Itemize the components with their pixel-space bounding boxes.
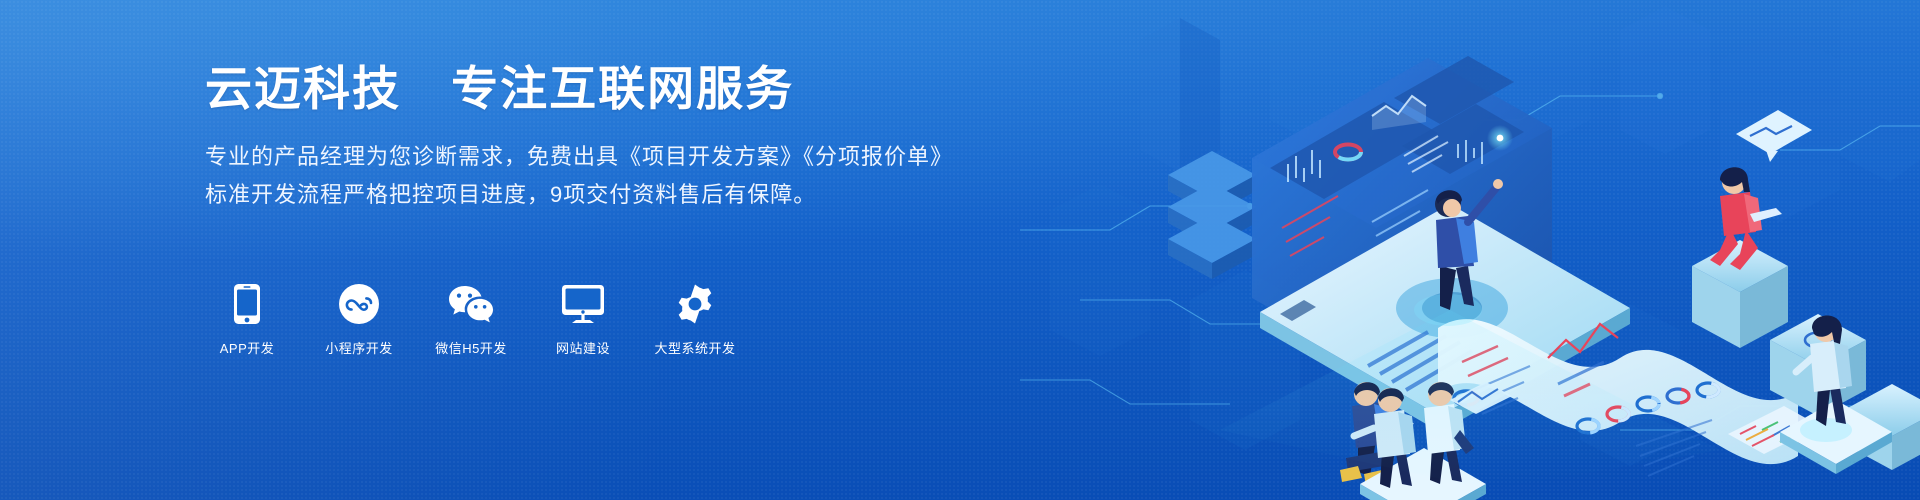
service-label: 大型系统开发 xyxy=(654,338,735,357)
headline-brand: 云迈科技 xyxy=(205,62,401,115)
service-item-app[interactable]: APP开发 xyxy=(205,282,289,357)
gear-icon xyxy=(674,282,716,326)
hero-subtitle: 专业的产品经理为您诊断需求，免费出具《项目开发方案》《分项报价单》 标准开发流程… xyxy=(205,138,965,214)
service-label: 小程序开发 xyxy=(325,338,393,357)
isometric-tech-dashboard-illustration xyxy=(1020,0,1920,500)
mobile-phone-icon xyxy=(233,282,261,326)
service-label: APP开发 xyxy=(220,338,275,357)
mini-program-icon xyxy=(338,282,380,326)
subtitle-line-1: 专业的产品经理为您诊断需求，免费出具《项目开发方案》《分项报价单》 xyxy=(205,138,965,176)
monitor-icon xyxy=(561,282,605,326)
subtitle-line-2: 标准开发流程严格把控项目进度，9项交付资料售后有保障。 xyxy=(205,176,965,214)
service-item-website[interactable]: 网站建设 xyxy=(541,282,625,357)
service-item-large-system[interactable]: 大型系统开发 xyxy=(653,282,737,357)
hero-banner: 云迈科技 专注互联网服务 专业的产品经理为您诊断需求，免费出具《项目开发方案》《… xyxy=(0,0,1920,500)
service-list: APP开发 小程序开发 xyxy=(205,282,737,357)
wechat-icon xyxy=(447,282,495,326)
service-item-wechat-h5[interactable]: 微信H5开发 xyxy=(429,282,513,357)
hero-copy: 云迈科技 专注互联网服务 专业的产品经理为您诊断需求，免费出具《项目开发方案》《… xyxy=(205,62,965,214)
page-title: 云迈科技 专注互联网服务 xyxy=(205,62,965,116)
server-stack xyxy=(1168,151,1256,279)
service-label: 微信H5开发 xyxy=(435,338,507,357)
service-label: 网站建设 xyxy=(556,338,610,357)
service-item-miniprogram[interactable]: 小程序开发 xyxy=(317,282,401,357)
headline-tagline: 专注互联网服务 xyxy=(451,62,794,115)
